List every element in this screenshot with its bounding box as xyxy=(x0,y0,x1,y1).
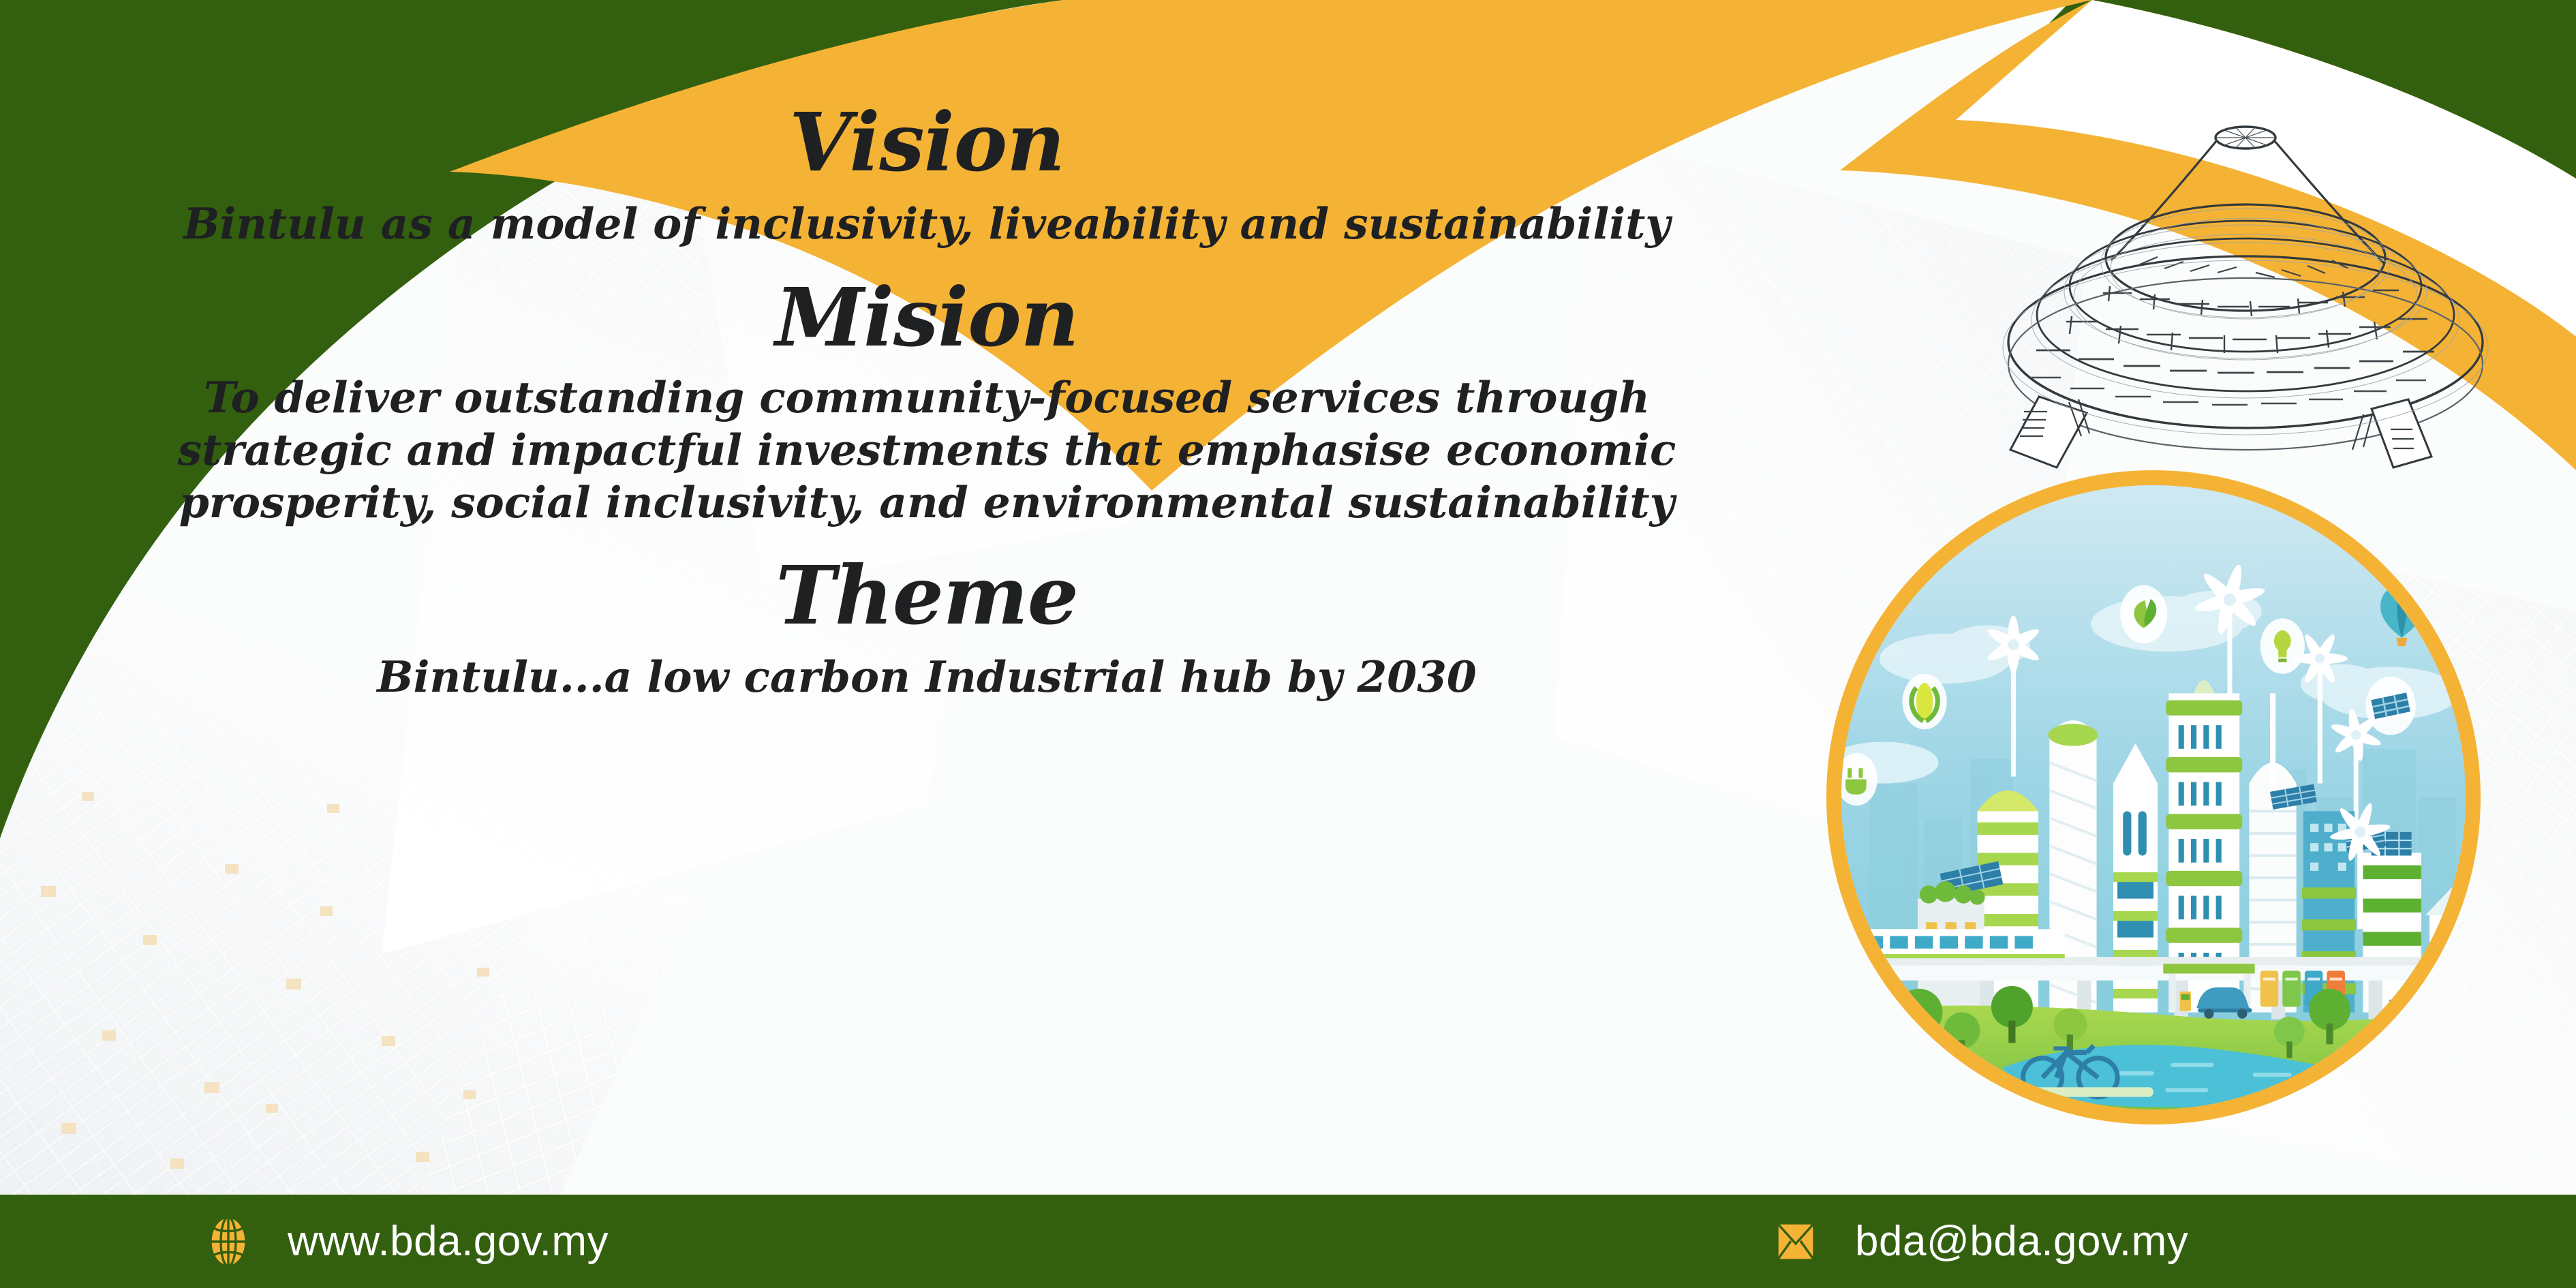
mission-heading: Mision xyxy=(0,277,1854,358)
theme-block: Theme Bintulu...a low carbon Industrial … xyxy=(0,555,1854,703)
vision-heading: Vision xyxy=(0,102,1854,183)
vision-block: Vision Bintulu as a model of inclusivity… xyxy=(0,102,1854,250)
footer-bar: www.bda.gov.my bda@bda.gov.my xyxy=(0,1195,2576,1288)
mission-line-3: prosperity, social inclusivity, and envi… xyxy=(0,476,1854,529)
footer-email[interactable]: bda@bda.gov.my xyxy=(1772,1215,2188,1268)
globe-icon xyxy=(204,1215,252,1268)
mission-line-2: strategic and impactful investments that… xyxy=(0,424,1854,476)
footer-website-label: www.bda.gov.my xyxy=(288,1217,609,1266)
theme-heading: Theme xyxy=(0,555,1854,636)
vision-mission-theme-content: Vision Bintulu as a model of inclusivity… xyxy=(0,102,1854,703)
footer-email-label: bda@bda.gov.my xyxy=(1855,1217,2188,1266)
mission-block: Mision To deliver outstanding community-… xyxy=(0,277,1854,529)
mission-line-1: To deliver outstanding community-focused… xyxy=(0,371,1854,424)
envelope-icon xyxy=(1772,1215,1820,1268)
footer-website[interactable]: www.bda.gov.my xyxy=(204,1215,609,1268)
theme-line-1: Bintulu...a low carbon Industrial hub by… xyxy=(0,651,1854,703)
vision-line-1: Bintulu as a model of inclusivity, livea… xyxy=(0,198,1854,250)
eco-city-illustration xyxy=(1826,470,2481,1124)
banner-root: Vision Bintulu as a model of inclusivity… xyxy=(0,0,2576,1288)
